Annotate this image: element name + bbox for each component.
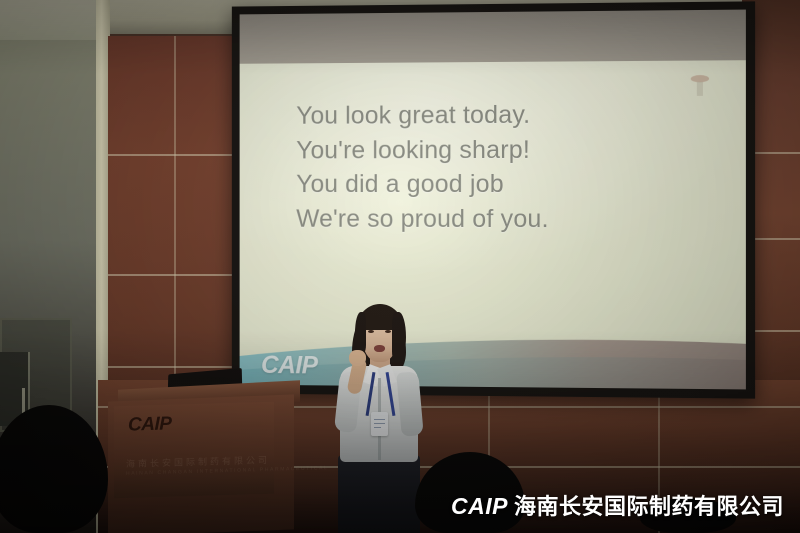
projected-slide: You look great today. You're looking sha… — [240, 60, 746, 389]
projection-screen: You look great today. You're looking sha… — [232, 1, 755, 398]
screen-unlit-band — [240, 10, 746, 66]
slide-body-text: You look great today. You're looking sha… — [296, 98, 549, 236]
slide-footer-band: CAIP — [240, 326, 746, 389]
speaker-hair-right — [392, 312, 406, 360]
presentation-photo: You look great today. You're looking sha… — [0, 0, 800, 533]
speaker-eye-left — [368, 330, 374, 333]
slide-line-1: You look great today. — [296, 98, 549, 133]
speaker-skirt — [338, 455, 420, 533]
speaker-id-badge — [371, 412, 388, 436]
slide-line-4: We're so proud of you. — [296, 201, 549, 236]
company-emblem-icon — [689, 73, 711, 99]
speaker-hair-left — [355, 312, 366, 352]
left-wall-upper — [0, 0, 98, 40]
speaker-eye-right — [385, 330, 391, 333]
slide-line-2: You're looking sharp! — [296, 132, 549, 167]
screen-surface: You look great today. You're looking sha… — [240, 10, 746, 390]
watermark-brand: CAIP — [451, 493, 507, 519]
speaker-mouth — [374, 345, 385, 352]
podium-caip-logo: CAIP — [128, 413, 171, 436]
slide-line-3: You did a good job — [296, 167, 549, 202]
speaker-fist — [349, 350, 366, 366]
slide-caip-logo: CAIP — [261, 351, 317, 380]
watermark: CAIP 海南长安国际制药有限公司 — [451, 489, 784, 521]
watermark-company: 海南长安国际制药有限公司 — [514, 495, 784, 520]
